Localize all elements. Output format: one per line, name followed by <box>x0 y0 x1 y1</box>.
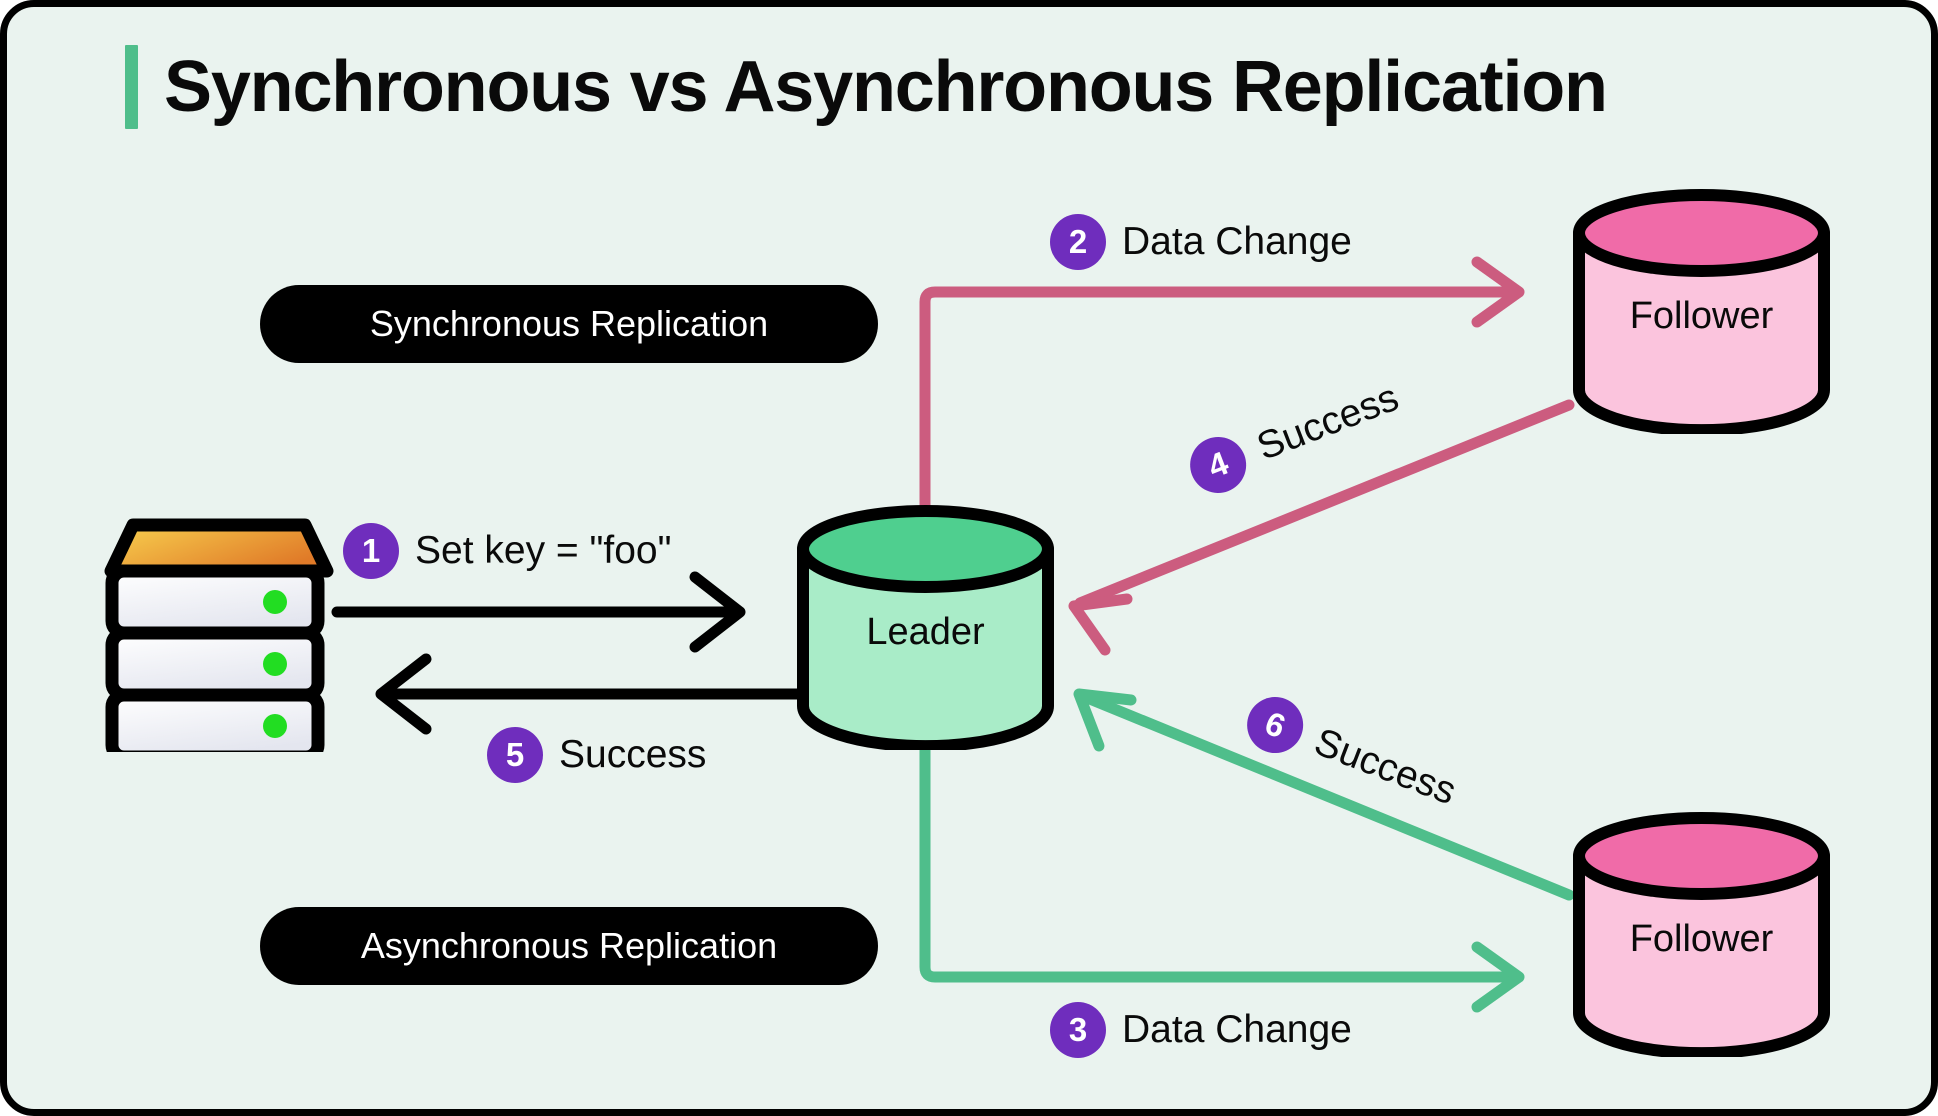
step-5: 5 Success <box>487 727 706 783</box>
step-1: 1 Set key = "foo" <box>343 523 671 579</box>
server-top-slab <box>111 525 327 571</box>
follower-bottom-cylinder-top <box>1579 818 1824 894</box>
leader-cylinder-top <box>803 511 1048 587</box>
label-synchronous-replication: Synchronous Replication <box>260 285 878 363</box>
step-3-label: Data Change <box>1122 1008 1352 1052</box>
step-5-badge: 5 <box>487 727 543 783</box>
leader-label: Leader <box>793 611 1058 654</box>
diagram-canvas: Synchronous vs Asynchronous Replication … <box>0 0 1938 1116</box>
step-2: 2 Data Change <box>1050 214 1352 270</box>
server-status-dot-2 <box>263 652 287 676</box>
label-asynchronous-replication: Asynchronous Replication <box>260 907 878 985</box>
node-leader[interactable]: Leader <box>793 505 1058 750</box>
follower-bottom-label: Follower <box>1569 918 1834 961</box>
follower-top-label: Follower <box>1569 295 1834 338</box>
server-layer-2 <box>112 633 318 695</box>
step-1-badge: 1 <box>343 523 399 579</box>
step-2-label: Data Change <box>1122 220 1352 264</box>
server-layer-1 <box>112 571 318 633</box>
client-server-stack-icon <box>103 517 335 752</box>
server-status-dot-1 <box>263 590 287 614</box>
server-layer-3 <box>112 695 318 752</box>
step-1-label: Set key = "foo" <box>415 529 671 573</box>
arrowhead-leader-async-return <box>1079 694 1131 746</box>
step-3-badge: 3 <box>1050 1002 1106 1058</box>
server-status-dot-3 <box>263 714 287 738</box>
arrowhead-leader-sync-return <box>1074 599 1127 650</box>
step-2-badge: 2 <box>1050 214 1106 270</box>
node-follower-top[interactable]: Follower <box>1569 189 1834 434</box>
step-5-label: Success <box>559 733 706 777</box>
follower-top-cylinder-top <box>1579 195 1824 271</box>
step-3: 3 Data Change <box>1050 1002 1352 1058</box>
node-follower-bottom[interactable]: Follower <box>1569 812 1834 1057</box>
